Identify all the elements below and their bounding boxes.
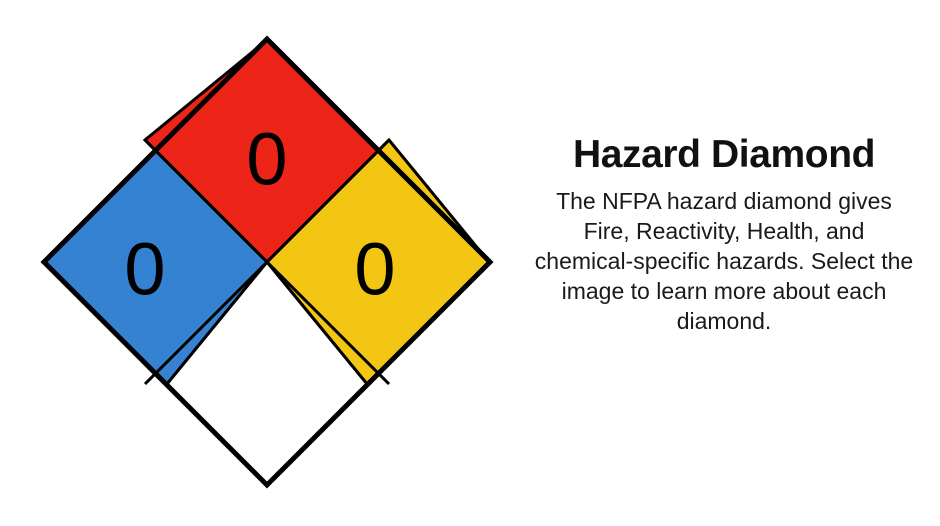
fire-rating-value: 0 (246, 118, 287, 201)
reactivity-rating-value: 0 (354, 228, 395, 311)
panel-description: The NFPA hazard diamond gives Fire, Reac… (524, 186, 924, 336)
hazard-diamond-svg[interactable]: 0 0 0 (20, 14, 514, 510)
hazard-diamond-figure[interactable]: 0 0 0 (20, 14, 514, 510)
health-rating-value: 0 (124, 228, 165, 311)
info-panel: Hazard Diamond The NFPA hazard diamond g… (524, 132, 924, 336)
hazard-diamond-screen: 0 0 0 Hazard Diamond The NFPA hazard dia… (0, 0, 940, 526)
page-title: Hazard Diamond (524, 132, 924, 178)
